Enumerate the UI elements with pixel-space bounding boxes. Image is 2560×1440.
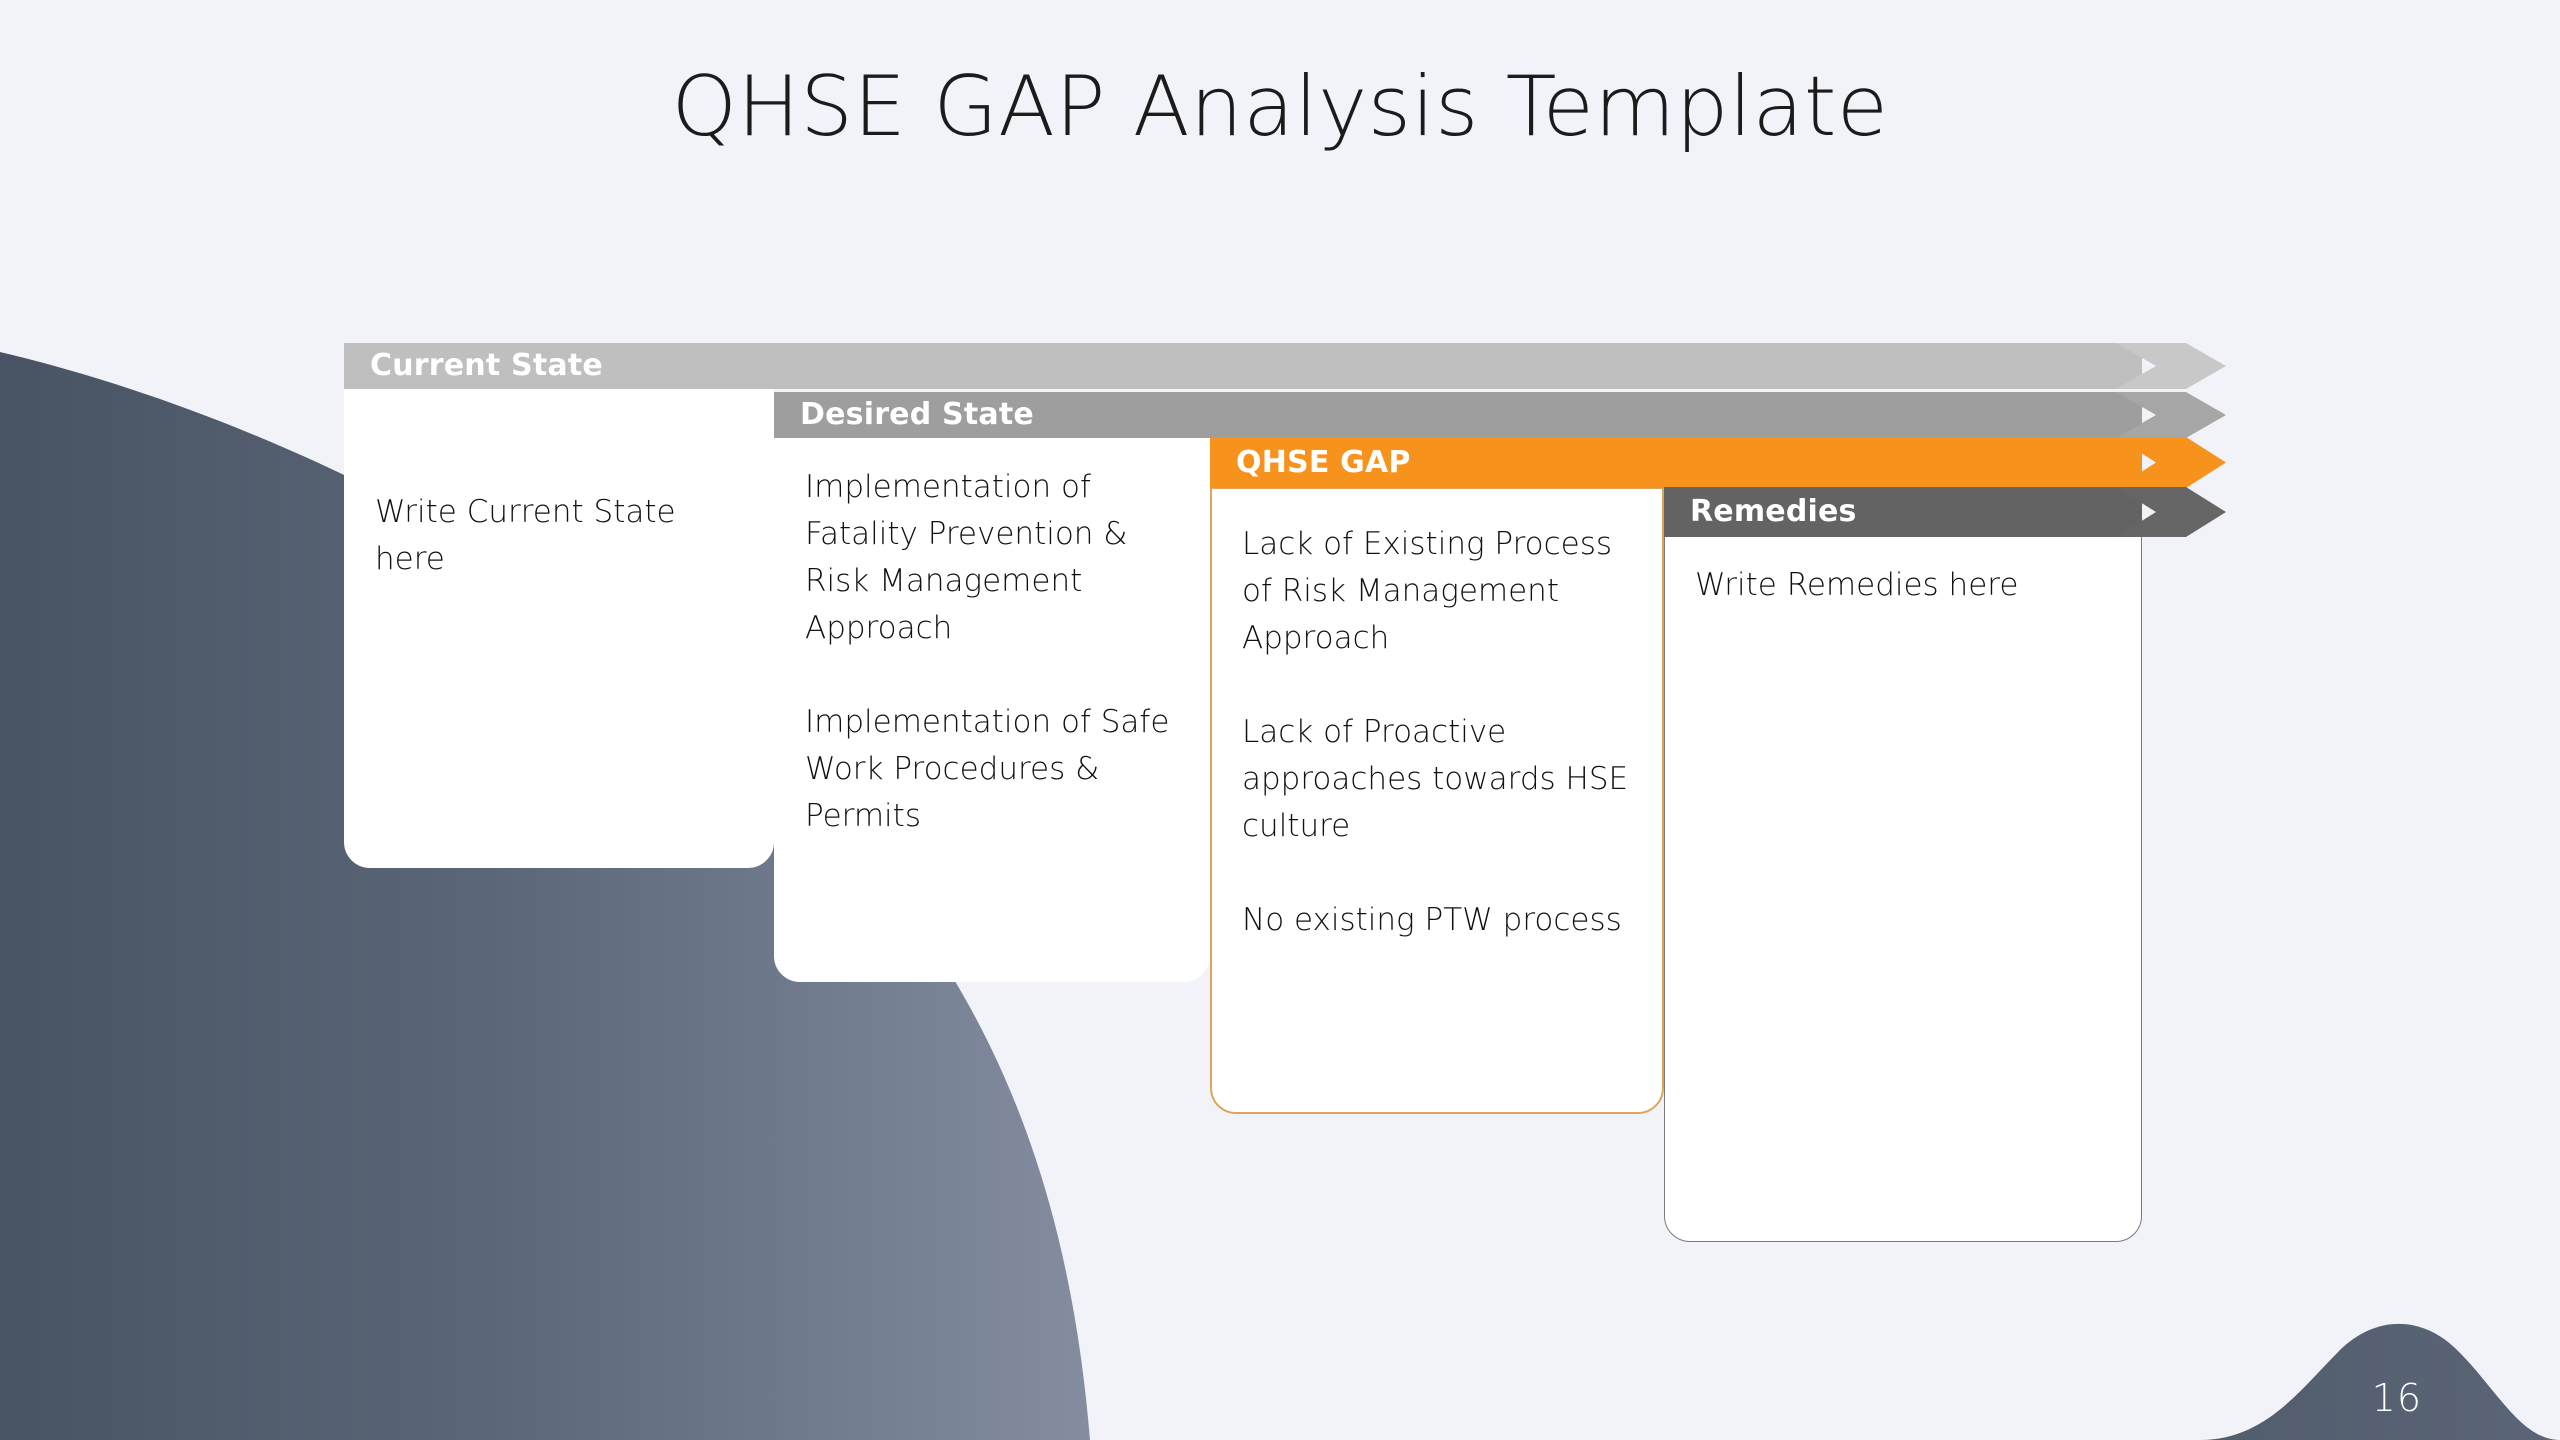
arrow-header-desired-state[interactable]: Desired State (774, 392, 2212, 438)
stage-paragraph: Implementation of Safe Work Procedures &… (805, 699, 1183, 840)
stage-card-desired-state[interactable]: Implementation of Fatality Prevention & … (774, 437, 1210, 982)
stage-body-current-state: Write Current State here (375, 489, 747, 583)
stage-paragraph: No existing PTW process (1242, 897, 1636, 944)
stage-body-qhse-gap: Lack of Existing Process of Risk Managem… (1242, 521, 1636, 944)
arrow-head-icon (2116, 392, 2226, 438)
stage-paragraph: Lack of Existing Process of Risk Managem… (1242, 521, 1636, 662)
stage-card-current-state[interactable]: Write Current State here (344, 388, 774, 868)
stage-card-qhse-gap[interactable]: Lack of Existing Process of Risk Managem… (1210, 487, 1664, 1114)
stage-paragraph: Implementation of Fatality Prevention & … (805, 464, 1183, 652)
arrow-header-current-state[interactable]: Current State (344, 343, 2212, 389)
arrow-header-remedies[interactable]: Remedies (1664, 487, 2212, 537)
stage-body-remedies: Write Remedies here (1695, 562, 2115, 609)
arrow-head-icon (2116, 437, 2226, 488)
arrow-head-icon (2116, 343, 2226, 389)
gap-analysis-diagram: Write Current State here Current State I… (0, 0, 2560, 1440)
slide-canvas: QHSE GAP Analysis Template Write Current… (0, 0, 2560, 1440)
stage-card-remedies[interactable]: Write Remedies here (1664, 536, 2142, 1242)
arrow-label-current-state: Current State (370, 348, 603, 383)
arrow-head-icon (2116, 487, 2226, 537)
arrow-header-qhse-gap[interactable]: QHSE GAP (1210, 437, 2212, 488)
stage-paragraph: Write Remedies here (1695, 562, 2115, 609)
stage-paragraph: Lack of Proactive approaches towards HSE… (1242, 709, 1636, 850)
arrow-label-desired-state: Desired State (800, 397, 1034, 432)
stage-body-desired-state: Implementation of Fatality Prevention & … (805, 464, 1183, 840)
arrow-bar (344, 343, 2142, 389)
arrow-label-remedies: Remedies (1690, 494, 1857, 529)
page-number: 16 (2372, 1376, 2422, 1420)
arrow-label-qhse-gap: QHSE GAP (1236, 445, 1411, 480)
stage-paragraph: Write Current State here (375, 489, 747, 583)
